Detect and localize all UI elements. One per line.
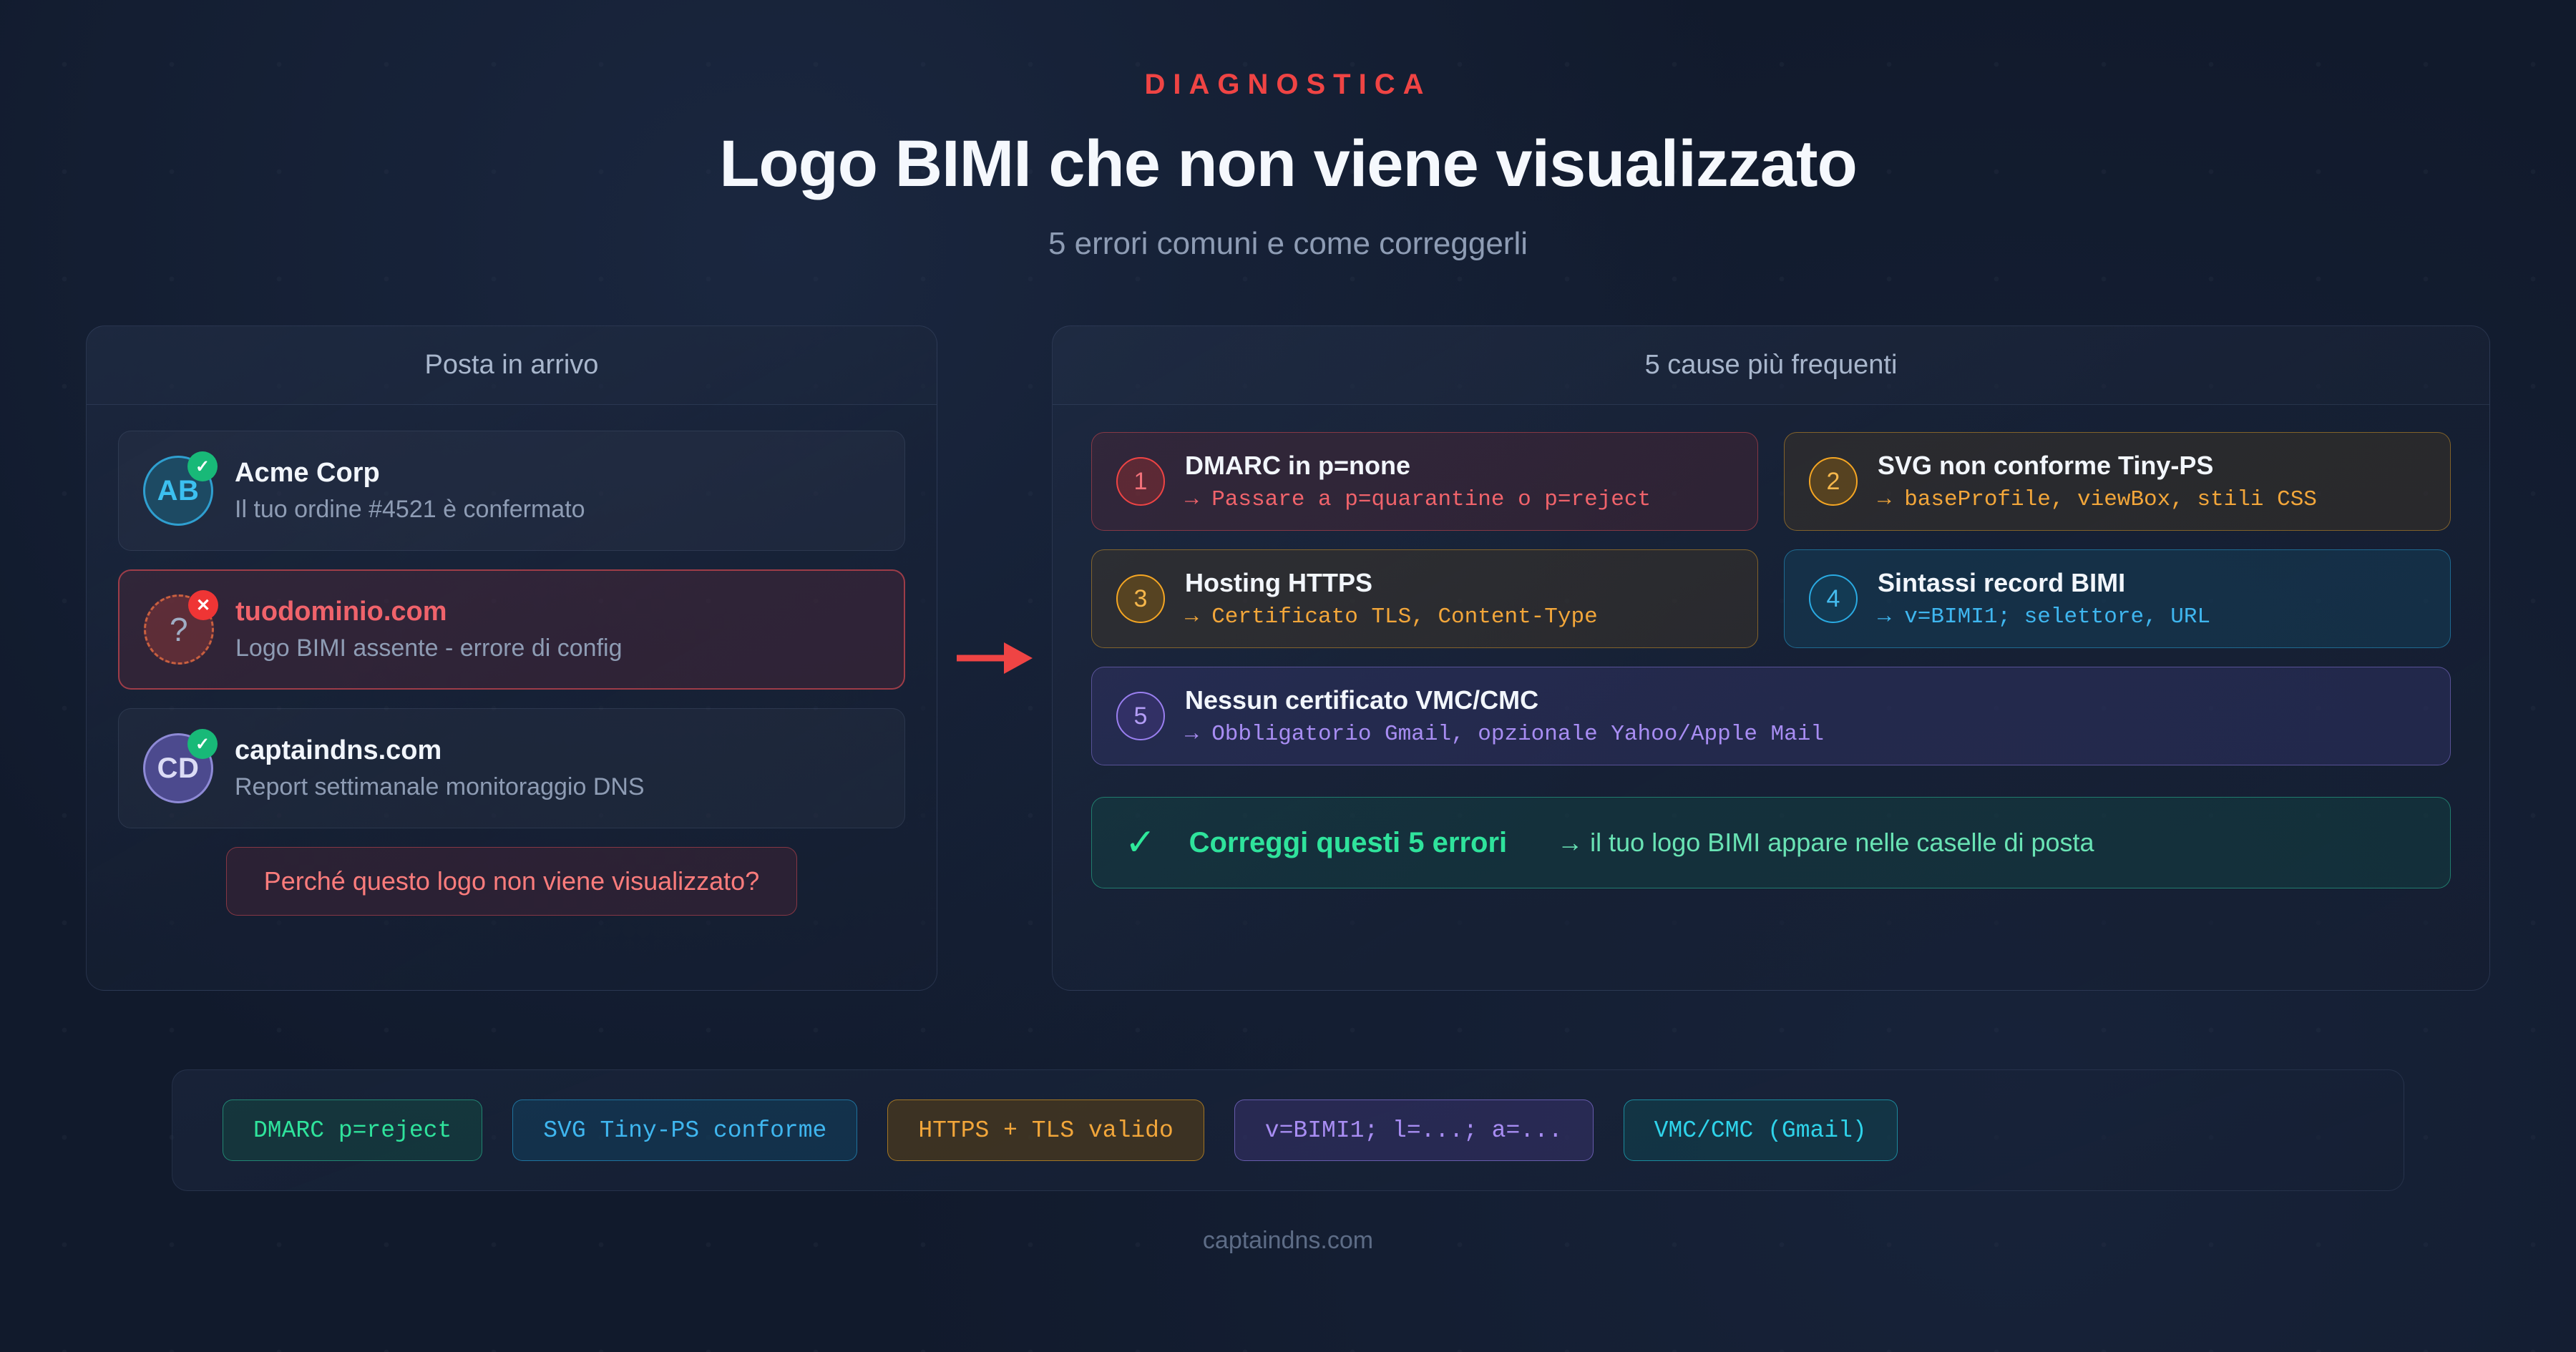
result-note: → il tuo logo BIMI appare nelle caselle … — [1557, 828, 2094, 858]
cause-fix: → Certificato TLS, Content-Type — [1185, 604, 1598, 630]
check-icon: ✓ — [1125, 824, 1156, 861]
inbox-panel: Posta in arrivo AB ✓ Acme Corp Il tuo or… — [86, 325, 937, 991]
why-logo-not-shown-button[interactable]: Perché questo logo non viene visualizzat… — [226, 847, 797, 916]
inbox-cta-row: Perché questo logo non viene visualizzat… — [118, 847, 905, 916]
infographic-page: DIAGNOSTICA Logo BIMI che non viene visu… — [0, 0, 2576, 1352]
verified-check-icon: ✓ — [187, 451, 218, 481]
cause-text: SVG non conforme Tiny-PS → baseProfile, … — [1878, 451, 2317, 512]
eyebrow-label: DIAGNOSTICA — [0, 69, 2576, 101]
cause-fix: → Passare a p=quarantine o p=reject — [1185, 487, 1651, 512]
cause-number-badge: 4 — [1809, 574, 1858, 623]
cause-number-badge: 3 — [1116, 574, 1165, 623]
avatar-wrap: ? ✕ — [144, 594, 214, 665]
cause-fix: → baseProfile, viewBox, stili CSS — [1878, 487, 2317, 512]
causes-grid: 1 DMARC in p=none → Passare a p=quaranti… — [1091, 432, 2451, 765]
cause-number-badge: 5 — [1116, 692, 1165, 740]
mail-item-captaindns[interactable]: CD ✓ captaindns.com Report settimanale m… — [118, 708, 905, 828]
cause-title: Hosting HTTPS — [1185, 568, 1598, 598]
cause-number-badge: 2 — [1809, 457, 1858, 506]
mail-item-tuodominio[interactable]: ? ✕ tuodominio.com Logo BIMI assente - e… — [118, 569, 905, 690]
mail-sender: captaindns.com — [235, 735, 645, 766]
chip-bimi-record[interactable]: v=BIMI1; l=...; a=... — [1234, 1099, 1594, 1161]
cause-fix: → Obbligatorio Gmail, opzionale Yahoo/Ap… — [1185, 722, 1824, 747]
mail-subject: Il tuo ordine #4521 è confermato — [235, 496, 585, 524]
page-subtitle: 5 errori comuni e come correggerli — [0, 226, 2576, 262]
chip-dmarc-reject[interactable]: DMARC p=reject — [223, 1099, 482, 1161]
causes-body: 1 DMARC in p=none → Passare a p=quaranti… — [1053, 405, 2489, 888]
mail-text: Acme Corp Il tuo ordine #4521 è conferma… — [235, 458, 585, 524]
arrow-right-icon — [955, 637, 1034, 680]
mail-text: captaindns.com Report settimanale monito… — [235, 735, 645, 801]
result-label: Correggi questi 5 errori — [1189, 827, 1508, 859]
cause-number-badge: 1 — [1116, 457, 1165, 506]
cause-fix: → v=BIMI1; selettore, URL — [1878, 604, 2210, 630]
verified-check-icon: ✓ — [187, 729, 218, 759]
cause-title: Nessun certificato VMC/CMC — [1185, 685, 1824, 715]
avatar-wrap: CD ✓ — [143, 733, 213, 803]
cause-card-2[interactable]: 2 SVG non conforme Tiny-PS → baseProfile… — [1784, 432, 2451, 531]
cause-text: DMARC in p=none → Passare a p=quarantine… — [1185, 451, 1651, 512]
cause-title: Sintassi record BIMI — [1878, 568, 2210, 598]
cause-card-1[interactable]: 1 DMARC in p=none → Passare a p=quaranti… — [1091, 432, 1758, 531]
chip-https-tls[interactable]: HTTPS + TLS valido — [887, 1099, 1204, 1161]
mail-text: tuodominio.com Logo BIMI assente - error… — [235, 597, 623, 662]
chip-vmc-cmc[interactable]: VMC/CMC (Gmail) — [1624, 1099, 1898, 1161]
causes-panel: 5 cause più frequenti 1 DMARC in p=none … — [1052, 325, 2490, 991]
avatar-wrap: AB ✓ — [143, 456, 213, 526]
inbox-panel-header: Posta in arrivo — [87, 326, 937, 405]
inbox-list: AB ✓ Acme Corp Il tuo ordine #4521 è con… — [87, 405, 937, 916]
cause-text: Sintassi record BIMI → v=BIMI1; selettor… — [1878, 568, 2210, 630]
cause-text: Hosting HTTPS → Certificato TLS, Content… — [1185, 568, 1598, 630]
chip-svg-tinyps[interactable]: SVG Tiny-PS conforme — [512, 1099, 857, 1161]
cause-title: SVG non conforme Tiny-PS — [1878, 451, 2317, 481]
mail-subject: Report settimanale monitoraggio DNS — [235, 773, 645, 801]
causes-panel-title: 5 cause più frequenti — [1645, 350, 1898, 381]
page-title: Logo BIMI che non viene visualizzato — [0, 127, 2576, 202]
cause-card-4[interactable]: 4 Sintassi record BIMI → v=BIMI1; selett… — [1784, 549, 2451, 648]
causes-panel-header: 5 cause più frequenti — [1053, 326, 2489, 405]
arrow-connector — [937, 325, 1052, 991]
main-stage: Posta in arrivo AB ✓ Acme Corp Il tuo or… — [86, 325, 2490, 1005]
result-banner: ✓ Correggi questi 5 errori → il tuo logo… — [1091, 797, 2451, 888]
mail-item-acme[interactable]: AB ✓ Acme Corp Il tuo ordine #4521 è con… — [118, 431, 905, 551]
cause-text: Nessun certificato VMC/CMC → Obbligatori… — [1185, 685, 1824, 747]
cause-title: DMARC in p=none — [1185, 451, 1651, 481]
footer-brand: captaindns.com — [0, 1227, 2576, 1255]
page-header: DIAGNOSTICA Logo BIMI che non viene visu… — [0, 0, 2576, 262]
mail-subject: Logo BIMI assente - errore di config — [235, 635, 623, 662]
checklist-chip-bar: DMARC p=reject SVG Tiny-PS conforme HTTP… — [172, 1069, 2404, 1191]
cause-card-5[interactable]: 5 Nessun certificato VMC/CMC → Obbligato… — [1091, 667, 2451, 765]
mail-sender: Acme Corp — [235, 458, 585, 489]
cause-card-3[interactable]: 3 Hosting HTTPS → Certificato TLS, Conte… — [1091, 549, 1758, 648]
inbox-panel-title: Posta in arrivo — [425, 350, 599, 381]
mail-sender: tuodominio.com — [235, 597, 623, 627]
error-cross-icon: ✕ — [188, 590, 218, 620]
